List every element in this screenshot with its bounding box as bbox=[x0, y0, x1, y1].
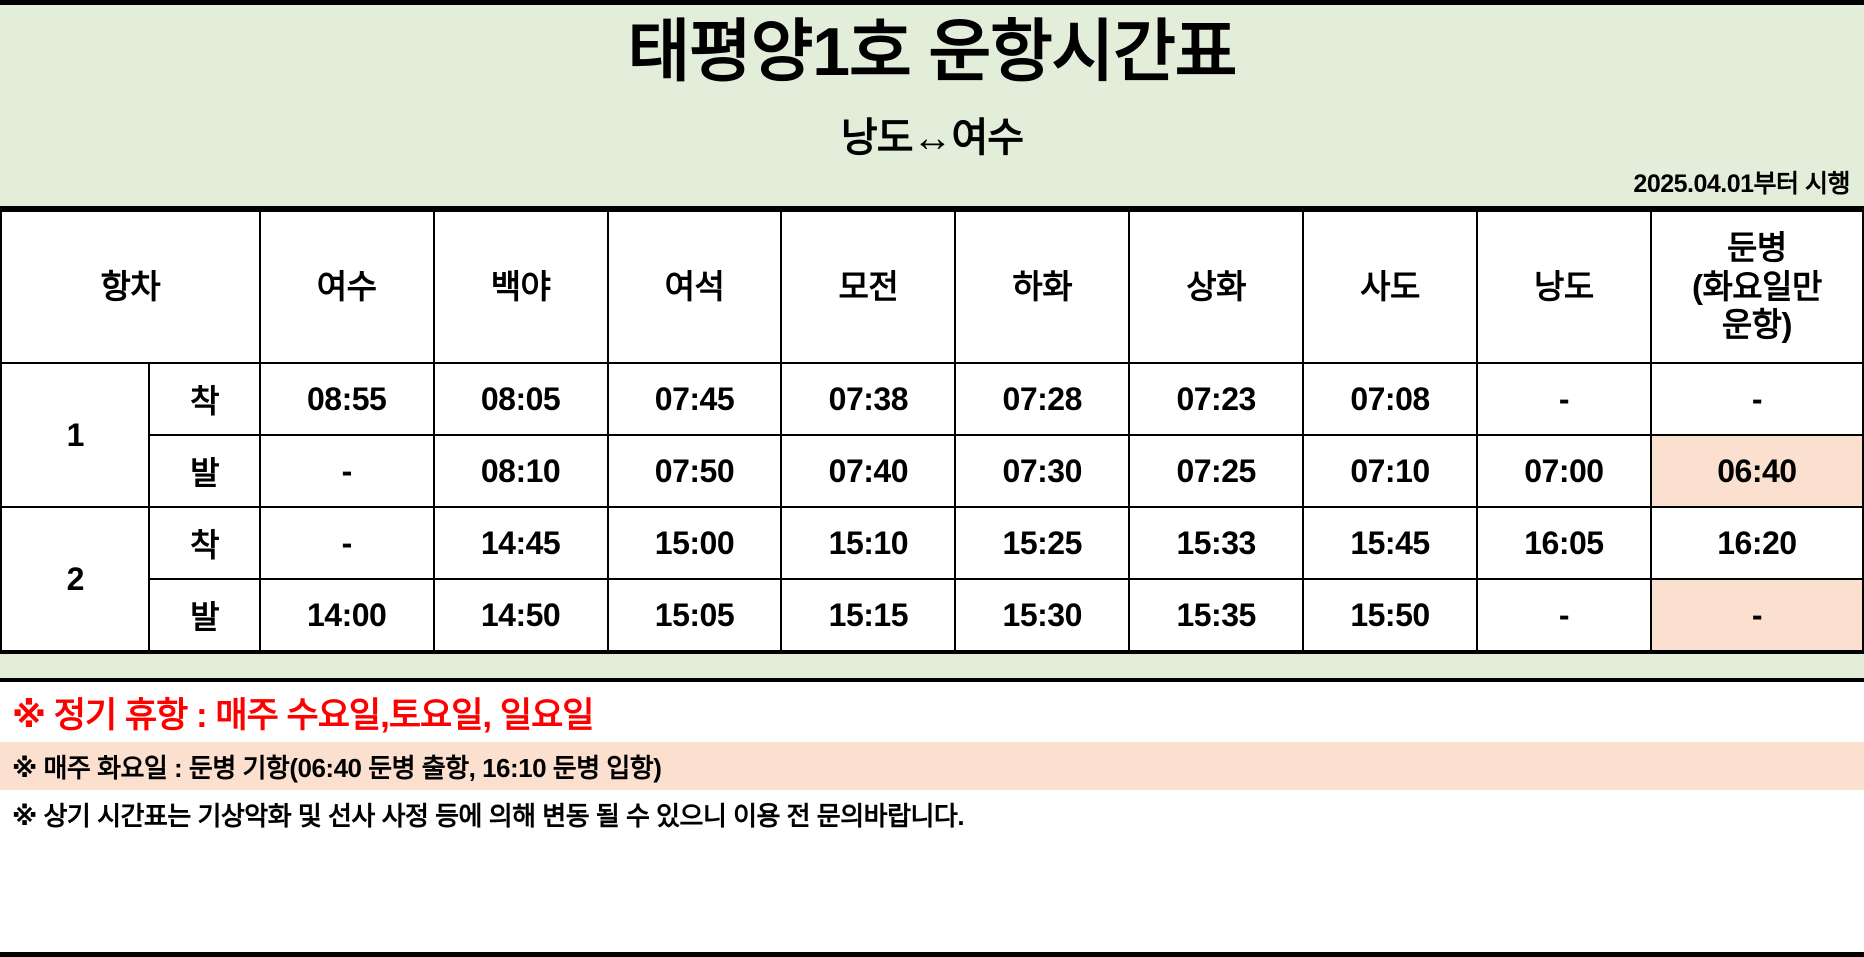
page-title: 태평양1호 운항시간표 bbox=[0, 5, 1864, 91]
cell-depart-sado: 15:50 bbox=[1303, 579, 1477, 651]
header-row: 항차 여수 백야 여석 모전 하화 상화 사도 낭도 둔병 (화요일만 운항) bbox=[1, 211, 1863, 363]
header-voyage: 항차 bbox=[1, 211, 260, 363]
header-port-sado: 사도 bbox=[1303, 211, 1477, 363]
header-port-dunbyeong: 둔병 (화요일만 운항) bbox=[1651, 211, 1863, 363]
cell-arrive-dunbyeong: - bbox=[1651, 363, 1863, 435]
cell-arrive-sado: 15:45 bbox=[1303, 507, 1477, 579]
header-port-yeoseok: 여석 bbox=[608, 211, 782, 363]
cell-arrive-hahwa: 15:25 bbox=[955, 507, 1129, 579]
note-schedule-disclaimer: ※ 상기 시간표는 기상악화 및 선사 사정 등에 의해 변동 될 수 있으니 … bbox=[0, 790, 1864, 838]
header-port-nangdo: 낭도 bbox=[1477, 211, 1651, 363]
cell-depart-baekya: 08:10 bbox=[434, 435, 608, 507]
cell-depart-hahwa: 07:30 bbox=[955, 435, 1129, 507]
cell-arrive-sanghwa: 15:33 bbox=[1129, 507, 1303, 579]
cell-depart-hahwa: 15:30 bbox=[955, 579, 1129, 651]
timetable-body: 1 착 08:55 08:05 07:45 07:38 07:28 07:23 … bbox=[1, 363, 1863, 651]
timetable: 항차 여수 백야 여석 모전 하화 상화 사도 낭도 둔병 (화요일만 운항) bbox=[0, 210, 1864, 652]
header-port-yeosu: 여수 bbox=[260, 211, 434, 363]
cell-depart-sanghwa: 07:25 bbox=[1129, 435, 1303, 507]
cell-depart-mojeon: 07:40 bbox=[781, 435, 955, 507]
header-port-sanghwa: 상화 bbox=[1129, 211, 1303, 363]
table-row: 2 착 - 14:45 15:00 15:10 15:25 15:33 15:4… bbox=[1, 507, 1863, 579]
table-row: 발 - 08:10 07:50 07:40 07:30 07:25 07:10 … bbox=[1, 435, 1863, 507]
timetable-container: 항차 여수 백야 여석 모전 하화 상화 사도 낭도 둔병 (화요일만 운항) bbox=[0, 210, 1864, 652]
dunbyeong-note-line2: 운항) bbox=[1652, 306, 1862, 345]
cell-arrive-yeoseok: 07:45 bbox=[608, 363, 782, 435]
route-subtitle: 낭도↔여수 bbox=[0, 105, 1864, 163]
cell-depart-mojeon: 15:15 bbox=[781, 579, 955, 651]
effective-date: 2025.04.01부터 시행 bbox=[1633, 164, 1850, 200]
timetable-header: 항차 여수 백야 여석 모전 하화 상화 사도 낭도 둔병 (화요일만 운항) bbox=[1, 211, 1863, 363]
cell-depart-nangdo: - bbox=[1477, 579, 1651, 651]
header-port-hahwa: 하화 bbox=[955, 211, 1129, 363]
cell-depart-nangdo: 07:00 bbox=[1477, 435, 1651, 507]
cell-arrive-yeoseok: 15:00 bbox=[608, 507, 782, 579]
cell-arrive-baekya: 08:05 bbox=[434, 363, 608, 435]
cell-arrive-sanghwa: 07:23 bbox=[1129, 363, 1303, 435]
cell-arrive-mojeon: 15:10 bbox=[781, 507, 955, 579]
cell-arrive-baekya: 14:45 bbox=[434, 507, 608, 579]
header-port-mojeon: 모전 bbox=[781, 211, 955, 363]
cell-arrive-hahwa: 07:28 bbox=[955, 363, 1129, 435]
cell-depart-yeosu: - bbox=[260, 435, 434, 507]
note-tuesday-dunbyeong: ※ 매주 화요일 : 둔병 기항(06:40 둔병 출항, 16:10 둔병 입… bbox=[0, 742, 1864, 790]
cell-depart-yeoseok: 15:05 bbox=[608, 579, 782, 651]
arrive-label: 착 bbox=[149, 507, 259, 579]
section-divider bbox=[0, 652, 1864, 682]
timetable-page: 태평양1호 운항시간표 낭도↔여수 2025.04.01부터 시행 항차 bbox=[0, 0, 1864, 957]
cell-depart-yeoseok: 07:50 bbox=[608, 435, 782, 507]
depart-label: 발 bbox=[149, 435, 259, 507]
voyage-number: 1 bbox=[1, 363, 149, 507]
cell-arrive-nangdo: 16:05 bbox=[1477, 507, 1651, 579]
cell-depart-dunbyeong: 06:40 bbox=[1651, 435, 1863, 507]
arrive-label: 착 bbox=[149, 363, 259, 435]
table-row: 발 14:00 14:50 15:05 15:15 15:30 15:35 15… bbox=[1, 579, 1863, 651]
cell-arrive-sado: 07:08 bbox=[1303, 363, 1477, 435]
notes-section: ※ 정기 휴항 : 매주 수요일,토요일, 일요일 ※ 매주 화요일 : 둔병 … bbox=[0, 682, 1864, 952]
cell-arrive-dunbyeong: 16:20 bbox=[1651, 507, 1863, 579]
header-port-baekya: 백야 bbox=[434, 211, 608, 363]
voyage-number: 2 bbox=[1, 507, 149, 651]
cell-depart-sanghwa: 15:35 bbox=[1129, 579, 1303, 651]
cell-depart-baekya: 14:50 bbox=[434, 579, 608, 651]
cell-arrive-yeosu: 08:55 bbox=[260, 363, 434, 435]
table-row: 1 착 08:55 08:05 07:45 07:38 07:28 07:23 … bbox=[1, 363, 1863, 435]
cell-arrive-mojeon: 07:38 bbox=[781, 363, 955, 435]
cell-depart-yeosu: 14:00 bbox=[260, 579, 434, 651]
note-regular-suspension: ※ 정기 휴항 : 매주 수요일,토요일, 일요일 bbox=[0, 682, 1864, 742]
depart-label: 발 bbox=[149, 579, 259, 651]
cell-arrive-nangdo: - bbox=[1477, 363, 1651, 435]
cell-arrive-yeosu: - bbox=[260, 507, 434, 579]
header-banner: 태평양1호 운항시간표 낭도↔여수 2025.04.01부터 시행 bbox=[0, 5, 1864, 210]
dunbyeong-note-line1: (화요일만 bbox=[1652, 268, 1862, 307]
cell-depart-sado: 07:10 bbox=[1303, 435, 1477, 507]
dunbyeong-name: 둔병 bbox=[1652, 229, 1862, 268]
cell-depart-dunbyeong: - bbox=[1651, 579, 1863, 651]
